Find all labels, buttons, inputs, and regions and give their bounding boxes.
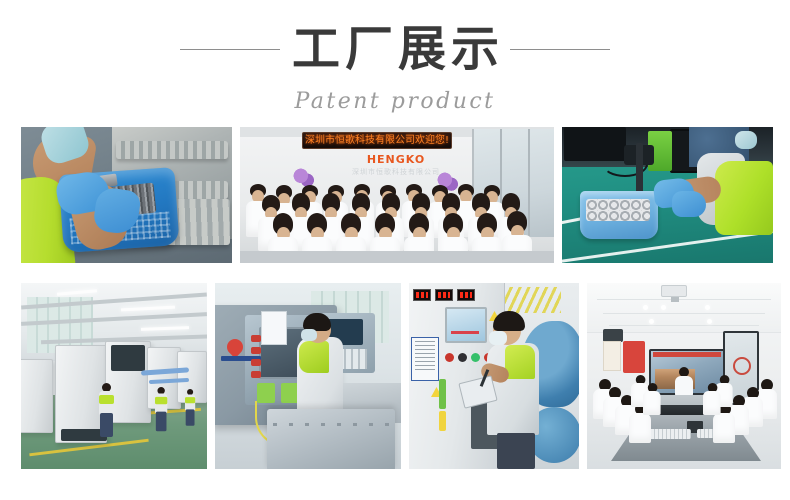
factory-display-page: 工厂展示 Patent product [0, 0, 790, 500]
downlight-1 [643, 305, 648, 310]
photo-cnc-machining-scene [215, 283, 401, 469]
gallery-row-bottom [21, 283, 769, 469]
machine-far-left [21, 359, 53, 433]
title-row: 工厂展示 [0, 18, 790, 80]
photo-sorting-parts-scene [21, 127, 232, 263]
page-title: 工厂展示 [288, 19, 504, 79]
cnc-button-column [251, 335, 261, 381]
photo-company-group-scene: 深圳市恒歌科技有限公司欢迎您! HENGKO 深圳市恒歌科技有限公司 [240, 127, 554, 263]
blue-glove-right [672, 191, 706, 217]
photo-production-line-scene [21, 283, 207, 469]
photo-meeting-room[interactable] [587, 283, 781, 469]
green-status-strip [439, 379, 446, 409]
led-banner-text: 深圳市恒歌科技有限公司欢迎您! [305, 136, 449, 146]
digital-readout-3 [457, 289, 475, 301]
operator-hi-vis-panel [299, 341, 329, 373]
downlight-2 [661, 305, 666, 310]
photo-meeting-room-scene [587, 283, 781, 469]
engineer-legs [497, 433, 535, 469]
downlight-4 [649, 319, 654, 324]
face-mask-icon [489, 331, 507, 345]
door-emblem-icon [733, 357, 751, 375]
machine-brand-mark [224, 336, 247, 359]
photo-production-line[interactable] [21, 283, 207, 469]
photo-gallery: 深圳市恒歌科技有限公司欢迎您! HENGKO 深圳市恒歌科技有限公司 [21, 127, 769, 469]
page-subtitle: Patent product [0, 89, 790, 114]
presentation-title-bar [653, 352, 721, 357]
photo-sorting-parts[interactable] [21, 127, 232, 263]
wall-calligraphy [603, 341, 621, 371]
ceiling-line-1 [597, 299, 771, 300]
ceiling-line-3 [609, 325, 759, 326]
led-welcome-banner: 深圳市恒歌科技有限公司欢迎您! [302, 132, 452, 149]
digital-readout-2 [435, 289, 453, 301]
photo-process-control-scene [409, 283, 579, 469]
overhead-cables [501, 287, 561, 313]
gallery-row-top: 深圳市恒歌科技有限公司欢迎您! HENGKO 深圳市恒歌科技有限公司 [21, 127, 769, 263]
photo-cnc-machining[interactable] [215, 283, 401, 469]
ceiling-line-2 [603, 313, 765, 314]
machine-document [261, 311, 287, 345]
section-header: 工厂展示 Patent product [0, 18, 790, 114]
cnc-green-pads [257, 383, 299, 403]
stainless-workpiece-cart [267, 409, 395, 469]
engineer-hi-vis-panel [505, 345, 535, 379]
process-display-screen [445, 307, 487, 343]
wall-poster-left [623, 341, 645, 373]
photo-esd-inspection[interactable] [562, 127, 773, 263]
ceiling-projector [661, 285, 687, 297]
lobby-floor [240, 251, 554, 263]
photo-company-group[interactable]: 深圳市恒歌科技有限公司欢迎您! HENGKO 深圳市恒歌科技有限公司 [240, 127, 554, 263]
face-mask-icon [735, 131, 757, 149]
rule-left-decoration [180, 49, 280, 50]
sintered-elements [586, 199, 650, 221]
machine-upper-panel [111, 345, 145, 371]
digital-readout-1 [413, 289, 431, 301]
staff-group [240, 159, 554, 263]
photo-process-control[interactable] [409, 283, 579, 469]
posted-procedure-sheet [411, 337, 439, 381]
yellow-status-strip [439, 411, 446, 431]
operator-hi-vis-sleeve [715, 161, 773, 235]
photo-esd-inspection-scene [562, 127, 773, 263]
rule-right-decoration [510, 49, 610, 50]
face-mask-icon [301, 329, 317, 341]
downlight-3 [705, 305, 710, 310]
downlight-5 [707, 319, 712, 324]
